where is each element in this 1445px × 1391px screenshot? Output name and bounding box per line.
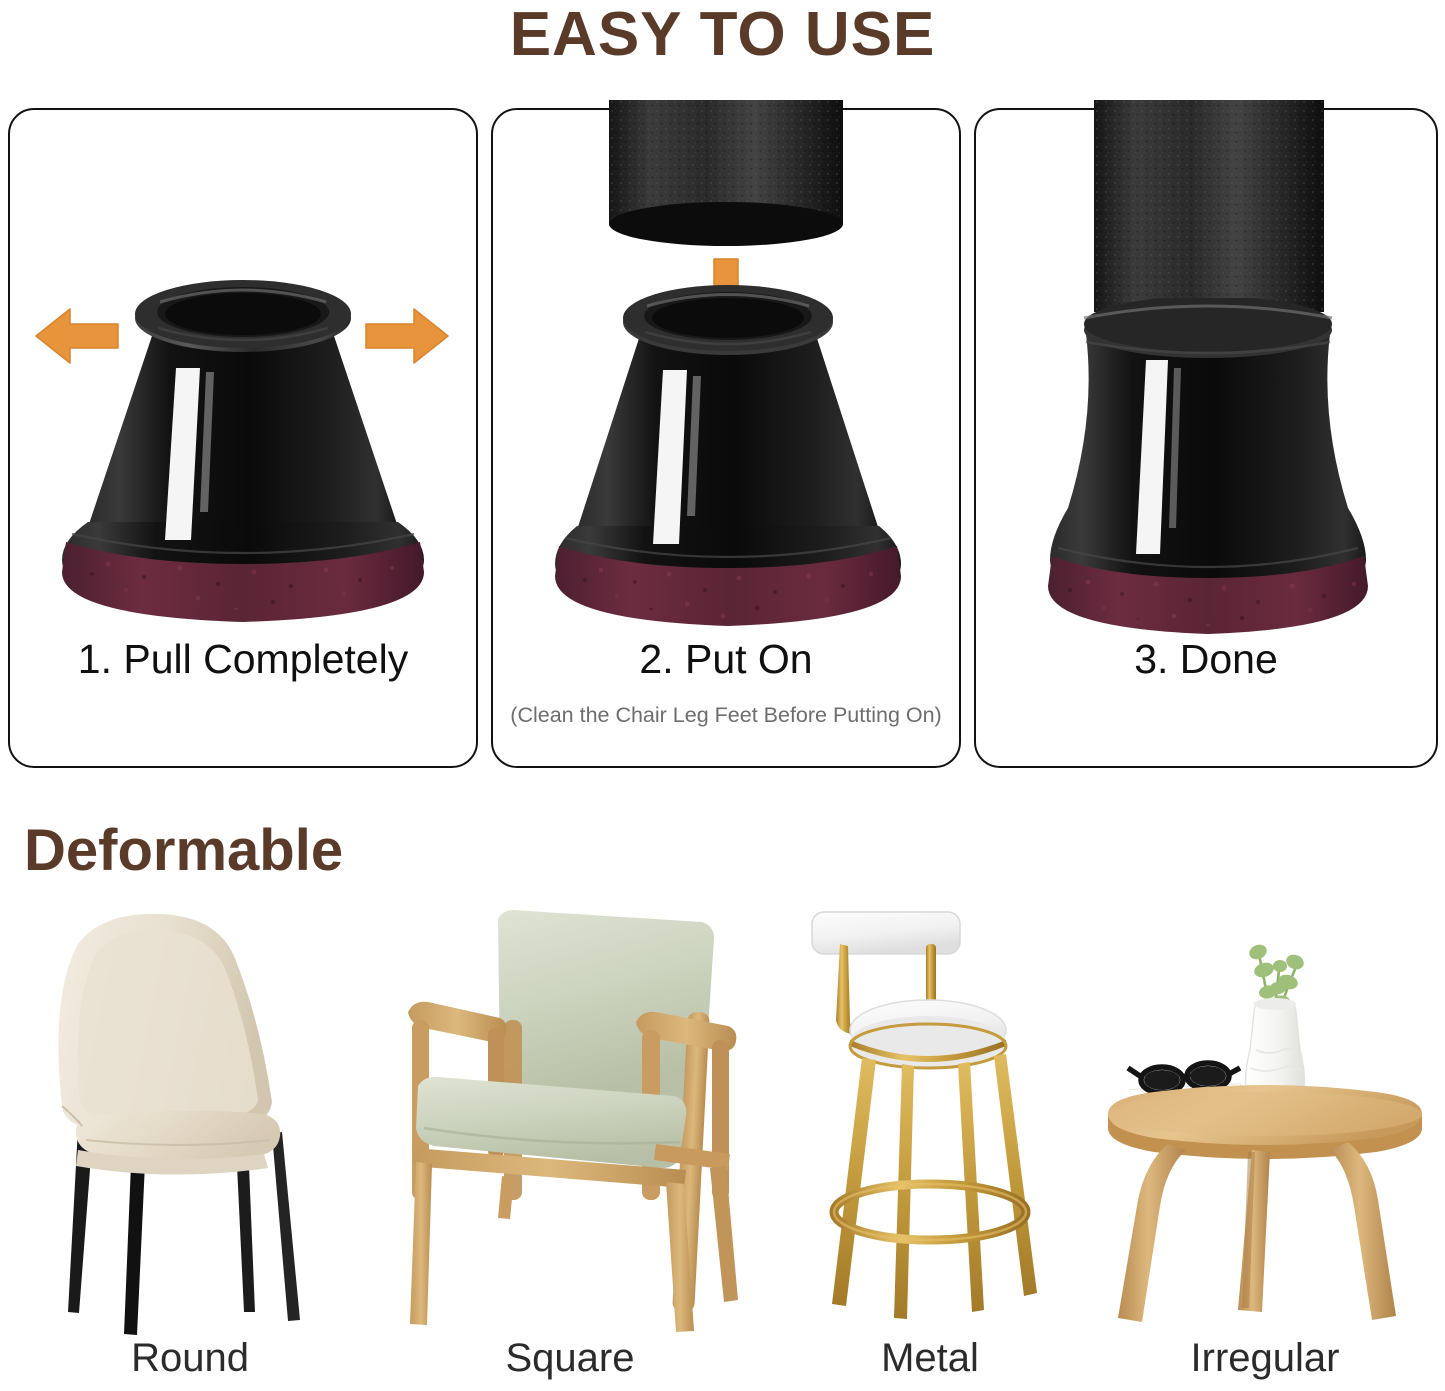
furniture-label-metal: Metal: [790, 1332, 1070, 1384]
step-panel-pull: 1. Pull Completely: [8, 108, 478, 768]
bar-stool-icon: [790, 900, 1070, 1340]
step-panel-done: 3. Done: [974, 108, 1438, 768]
step-caption-put-on: 2. Put On: [493, 635, 959, 683]
step-panel-put-on: 2. Put On (Clean the Chair Leg Feet Befo…: [491, 108, 961, 768]
furniture-row: [0, 900, 1445, 1340]
chair-leg-cap-installed-icon: [1018, 298, 1398, 638]
step-subcaption-put-on: (Clean the Chair Leg Feet Before Putting…: [493, 702, 959, 728]
furniture-item-square: [380, 900, 760, 1340]
step-caption-pull: 1. Pull Completely: [10, 635, 476, 683]
furniture-label-irregular: Irregular: [1090, 1332, 1440, 1384]
chair-leg-cap-icon: [543, 278, 913, 638]
dining-chair-icon: [20, 900, 360, 1340]
steps-section: 1. Pull Completely: [8, 108, 1438, 768]
step-caption-done: 3. Done: [976, 635, 1436, 683]
furniture-item-irregular: [1090, 900, 1440, 1340]
section-title-deformable: Deformable: [24, 815, 343, 887]
chair-leg-cap-icon: [48, 272, 438, 632]
furniture-item-metal: [790, 900, 1070, 1340]
page-title: EASY TO USE: [0, 0, 1445, 74]
wood-armchair-icon: [380, 900, 760, 1340]
furniture-label-square: Square: [380, 1332, 760, 1384]
furniture-label-round: Round: [20, 1332, 360, 1384]
side-table-icon: [1090, 900, 1440, 1340]
furniture-item-round: [20, 900, 360, 1340]
